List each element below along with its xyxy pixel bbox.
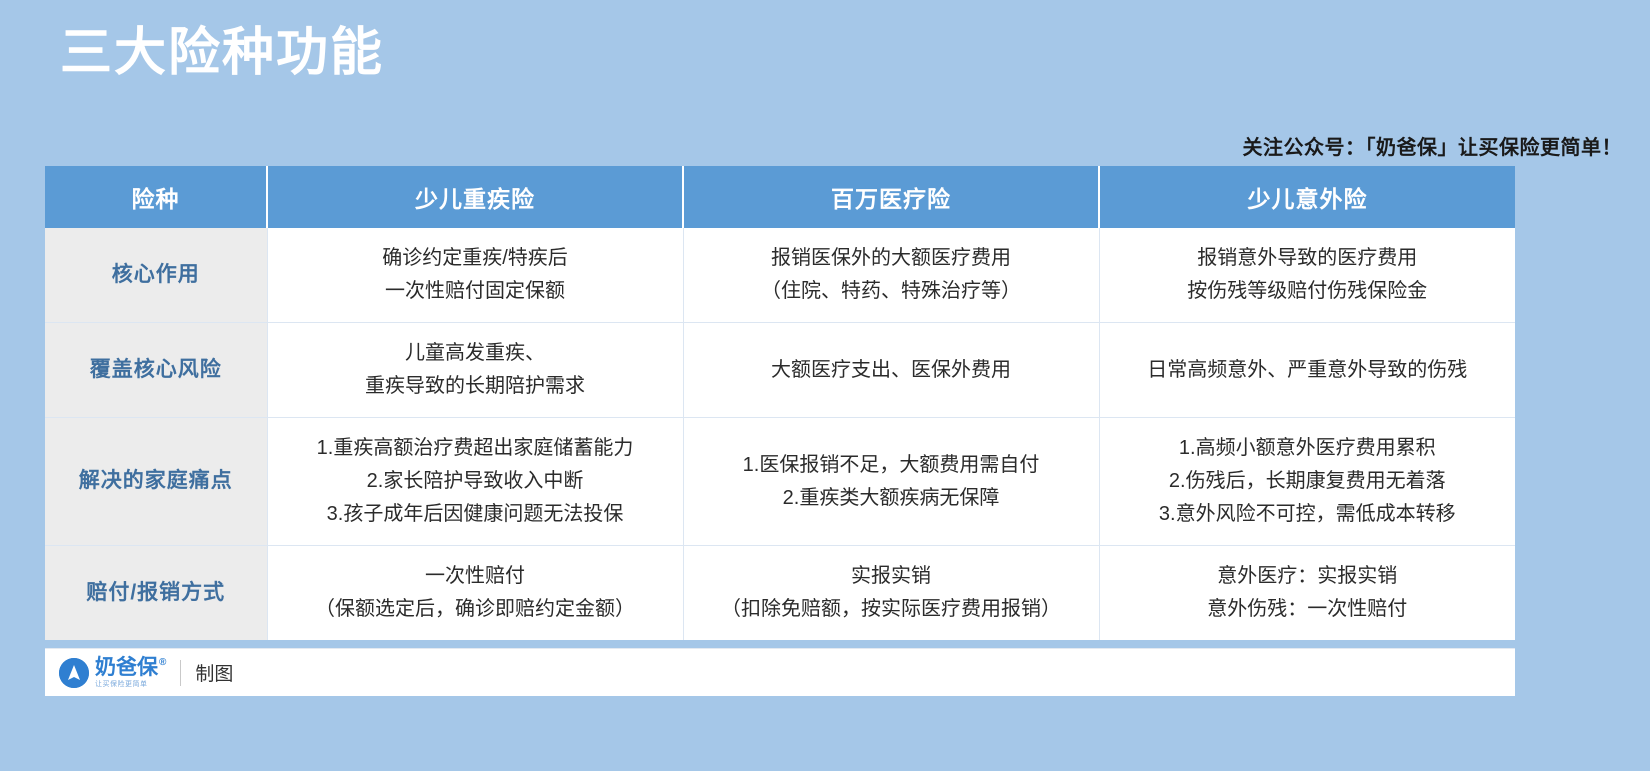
table-cell: 报销医保外的大额医疗费用 （住院、特药、特殊治疗等） xyxy=(683,228,1099,323)
cell-line: 日常高频意外、严重意外导致的伤残 xyxy=(1110,354,1506,387)
cell-line: 按伤残等级赔付伤残保险金 xyxy=(1110,275,1506,308)
table-body: 核心作用 确诊约定重疾/特疾后 一次性赔付固定保额 报销医保外的大额医疗费用 （… xyxy=(45,228,1515,640)
row-label: 解决的家庭痛点 xyxy=(45,418,267,546)
table-row: 解决的家庭痛点 1.重疾高额治疗费超出家庭储蓄能力 2.家长陪护导致收入中断 3… xyxy=(45,418,1515,546)
cell-line: 3.孩子成年后因健康问题无法投保 xyxy=(278,498,673,531)
table-cell: 1.重疾高额治疗费超出家庭储蓄能力 2.家长陪护导致收入中断 3.孩子成年后因健… xyxy=(267,418,683,546)
comparison-table: 险种 少儿重疾险 百万医疗险 少儿意外险 核心作用 确诊约定重疾/特疾后 一次性… xyxy=(45,166,1515,640)
cell-line: 大额医疗支出、医保外费用 xyxy=(694,354,1089,387)
table-cell: 大额医疗支出、医保外费用 xyxy=(683,323,1099,418)
cell-line: 1.医保报销不足，大额费用需自付 xyxy=(694,449,1089,482)
column-header-category: 险种 xyxy=(45,166,267,228)
cell-line: 意外医疗：实报实销 xyxy=(1110,560,1506,593)
table-cell: 意外医疗：实报实销 意外伤残：一次性赔付 xyxy=(1099,546,1515,641)
cell-line: 实报实销 xyxy=(694,560,1089,593)
table-row: 赔付/报销方式 一次性赔付 （保额选定后，确诊即赔约定金额） 实报实销 （扣除免… xyxy=(45,546,1515,641)
cell-line: 3.意外风险不可控，需低成本转移 xyxy=(1110,498,1506,531)
table-header: 险种 少儿重疾险 百万医疗险 少儿意外险 xyxy=(45,166,1515,228)
table-cell: 实报实销 （扣除免赔额，按实际医疗费用报销） xyxy=(683,546,1099,641)
table-cell: 日常高频意外、严重意外导致的伤残 xyxy=(1099,323,1515,418)
brand-logo: 奶爸保 ® 让买保险更简单 xyxy=(59,657,166,688)
cell-line: 2.重疾类大额疾病无保障 xyxy=(694,482,1089,515)
cell-line: （扣除免赔额，按实际医疗费用报销） xyxy=(694,593,1089,626)
row-label: 覆盖核心风险 xyxy=(45,323,267,418)
table-header-row: 险种 少儿重疾险 百万医疗险 少儿意外险 xyxy=(45,166,1515,228)
table-row: 核心作用 确诊约定重疾/特疾后 一次性赔付固定保额 报销医保外的大额医疗费用 （… xyxy=(45,228,1515,323)
column-header-medical: 百万医疗险 xyxy=(683,166,1099,228)
column-header-accident: 少儿意外险 xyxy=(1099,166,1515,228)
cell-line: 1.高频小额意外医疗费用累积 xyxy=(1110,432,1506,465)
comparison-table-container: 险种 少儿重疾险 百万医疗险 少儿意外险 核心作用 确诊约定重疾/特疾后 一次性… xyxy=(45,166,1515,640)
cell-line: 儿童高发重疾、 xyxy=(278,337,673,370)
cell-line: 报销意外导致的医疗费用 xyxy=(1110,242,1506,275)
cell-line: 一次性赔付固定保额 xyxy=(278,275,673,308)
cell-line: 2.伤残后，长期康复费用无着落 xyxy=(1110,465,1506,498)
table-cell: 1.医保报销不足，大额费用需自付 2.重疾类大额疾病无保障 xyxy=(683,418,1099,546)
table-cell: 一次性赔付 （保额选定后，确诊即赔约定金额） xyxy=(267,546,683,641)
table-cell: 确诊约定重疾/特疾后 一次性赔付固定保额 xyxy=(267,228,683,323)
table-cell: 儿童高发重疾、 重疾导致的长期陪护需求 xyxy=(267,323,683,418)
table-cell: 报销意外导致的医疗费用 按伤残等级赔付伤残保险金 xyxy=(1099,228,1515,323)
brand-mark-icon xyxy=(59,658,89,688)
poster-root: 三大险种功能 关注公众号：「奶爸保」让买保险更简单！ 险种 少儿重疾险 百万医疗… xyxy=(0,0,1650,771)
row-label: 赔付/报销方式 xyxy=(45,546,267,641)
promo-subtitle: 关注公众号：「奶爸保」让买保险更简单！ xyxy=(1243,131,1623,160)
cell-line: 意外伤残：一次性赔付 xyxy=(1110,593,1506,626)
row-label: 核心作用 xyxy=(45,228,267,323)
footer-divider xyxy=(180,660,181,686)
cell-line: 重疾导致的长期陪护需求 xyxy=(278,370,673,403)
cell-line: （保额选定后，确诊即赔约定金额） xyxy=(278,593,673,626)
brand-name: 奶爸保 xyxy=(95,657,158,678)
brand-text: 奶爸保 ® 让买保险更简单 xyxy=(95,657,166,688)
column-header-critical-illness: 少儿重疾险 xyxy=(267,166,683,228)
cell-line: 2.家长陪护导致收入中断 xyxy=(278,465,673,498)
table-row: 覆盖核心风险 儿童高发重疾、 重疾导致的长期陪护需求 大额医疗支出、医保外费用 … xyxy=(45,323,1515,418)
page-title: 三大险种功能 xyxy=(60,22,384,84)
cell-line: 1.重疾高额治疗费超出家庭储蓄能力 xyxy=(278,432,673,465)
brand-name-wrap: 奶爸保 ® xyxy=(95,657,166,678)
cell-line: （住院、特药、特殊治疗等） xyxy=(694,275,1089,308)
registered-mark-icon: ® xyxy=(159,658,166,668)
table-cell: 1.高频小额意外医疗费用累积 2.伤残后，长期康复费用无着落 3.意外风险不可控… xyxy=(1099,418,1515,546)
cell-line: 一次性赔付 xyxy=(278,560,673,593)
footer-credit-label: 制图 xyxy=(195,659,233,686)
cell-line: 确诊约定重疾/特疾后 xyxy=(278,242,673,275)
brand-slogan: 让买保险更简单 xyxy=(95,681,166,688)
footer-bar: 奶爸保 ® 让买保险更简单 制图 xyxy=(45,648,1515,696)
cell-line: 报销医保外的大额医疗费用 xyxy=(694,242,1089,275)
